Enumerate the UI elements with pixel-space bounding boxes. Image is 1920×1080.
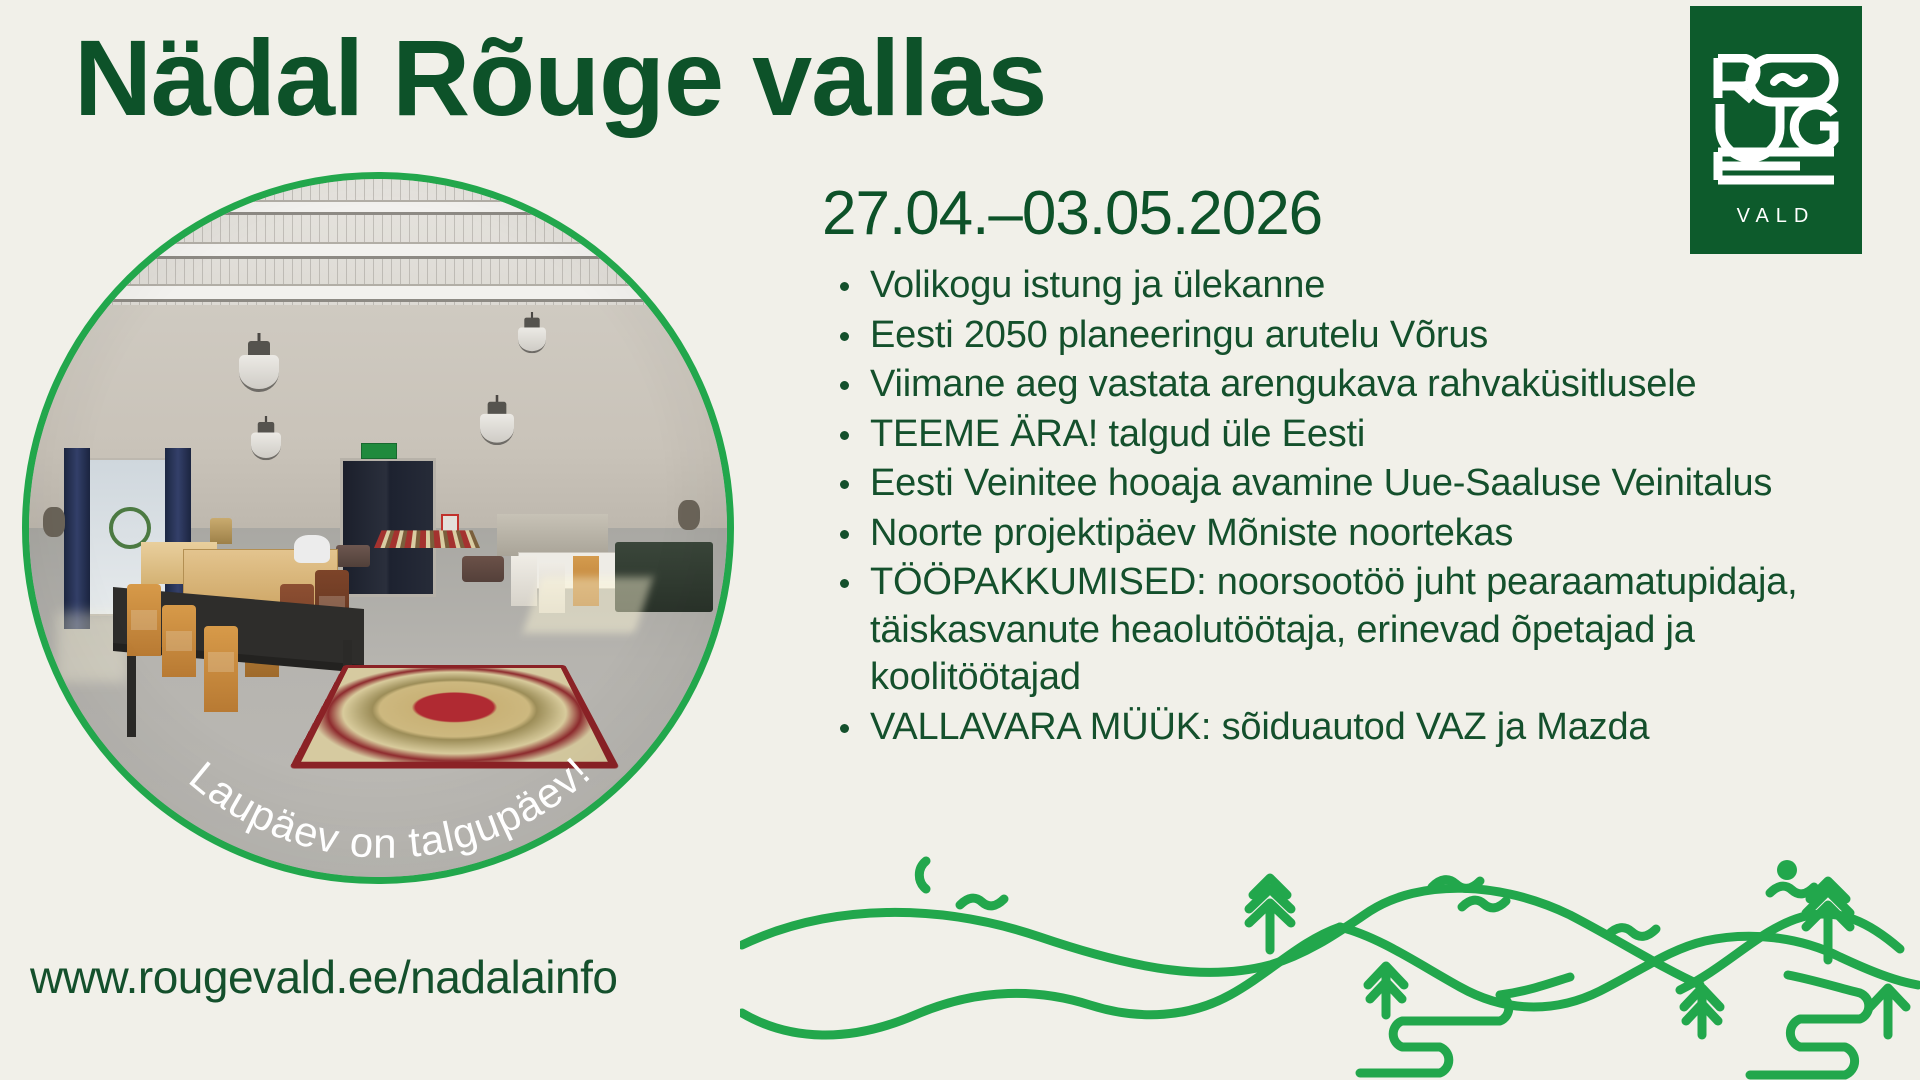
bird-icon — [960, 898, 1004, 906]
list-item: Noorte projektipäev Mõniste noortekas — [832, 510, 1912, 558]
arrow-tree-icon — [1368, 966, 1404, 1015]
list-item: TEEME ÄRA! talgud üle Eesti — [832, 411, 1912, 459]
curved-caption: Laupäev on talgupäev! — [29, 179, 734, 884]
arrow-tree-icon — [1684, 988, 1720, 1035]
list-item: TÖÖPAKKUMISED: noorsootöö juht pearaamat… — [832, 559, 1912, 702]
list-item: Volikogu istung ja ülekanne — [832, 262, 1912, 310]
bird-icon — [1770, 886, 1814, 894]
caption-textpath: Laupäev on talgupäev! — [181, 748, 599, 867]
website-url: www.rougevald.ee/nadalainfo — [30, 950, 617, 1004]
winding-river-2 — [1750, 975, 1869, 1075]
list-item: VALLAVARA MÜÜK: sõiduautod VAZ ja Mazda — [832, 704, 1912, 752]
caption-text: Laupäev on talgupäev! — [181, 748, 599, 867]
list-item: Viimane aeg vastata arengukava rahvaküsi… — [832, 361, 1912, 409]
moon-icon — [919, 861, 926, 889]
page-title: Nädal Rõuge vallas — [74, 20, 1046, 137]
logo-wordmark: VALD — [1690, 205, 1862, 228]
bird-icon — [1462, 900, 1506, 908]
hill-ridge-2 — [742, 927, 1340, 1035]
rouge-vald-logo: VALD — [1690, 6, 1862, 254]
hill-ridge-1 — [742, 888, 1700, 985]
rouge-logo-mark — [1712, 54, 1840, 186]
poster-canvas: Nädal Rõuge vallas VALD 27.04.–03.05.202… — [0, 0, 1920, 1080]
circular-photo: Laupäev on talgupäev! — [22, 172, 734, 884]
list-item: Eesti 2050 planeeringu arutelu Võrus — [832, 312, 1912, 360]
date-range: 27.04.–03.05.2026 — [822, 178, 1322, 249]
arrow-icon — [1870, 988, 1906, 1035]
sun-dot-icon — [1777, 860, 1797, 880]
list-item: Eesti Veinitee hooaja avamine Uue-Saalus… — [832, 460, 1912, 508]
pine-tree-icon — [1249, 878, 1291, 950]
landscape-illustration — [740, 845, 1920, 1080]
event-list: Volikogu istung ja ülekanne Eesti 2050 p… — [832, 262, 1912, 753]
